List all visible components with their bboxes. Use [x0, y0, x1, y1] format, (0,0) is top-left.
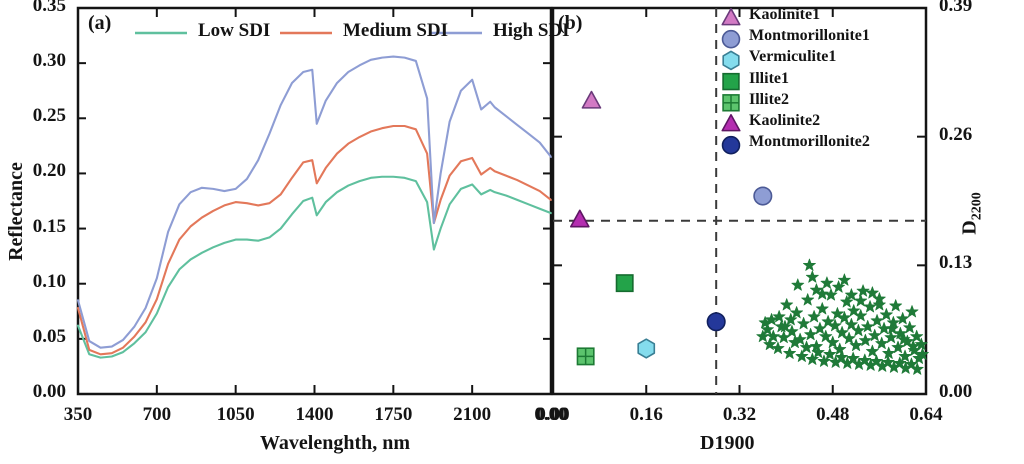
panel-b-yaxis-title-sub: 2200: [970, 192, 985, 220]
panel-a-xaxis-title: Wavelenghth, nm: [260, 432, 410, 455]
legend-b-marker-2: [723, 51, 739, 69]
panel-b-tag: (b): [558, 12, 582, 35]
scatter-point-illite1: [617, 275, 633, 291]
panel-a-yaxis-title: Reflectance: [5, 162, 28, 261]
scatter-point-montmorillonite1: [754, 187, 771, 204]
scatter-point-vermiculite1: [638, 339, 654, 358]
scatter-point-montmorillonite2: [707, 313, 724, 330]
legend-b-marker-3: [723, 74, 739, 90]
figure-canvas: [0, 0, 1024, 464]
legend-b-marker-1: [723, 31, 740, 48]
panel-a-frame: [78, 8, 551, 394]
panel-b-yaxis-title-text: D: [959, 220, 981, 234]
panel-b-xaxis-title: D1900: [700, 432, 754, 455]
figure-root: (a) Wavelenghth, nm Reflectance (b) D190…: [0, 0, 1024, 464]
legend-b-marker-6: [723, 137, 740, 154]
panel-b-frame: [553, 8, 926, 394]
panel-b-yaxis-title: D2200: [959, 192, 986, 234]
panel-a-tag: (a): [88, 12, 111, 35]
